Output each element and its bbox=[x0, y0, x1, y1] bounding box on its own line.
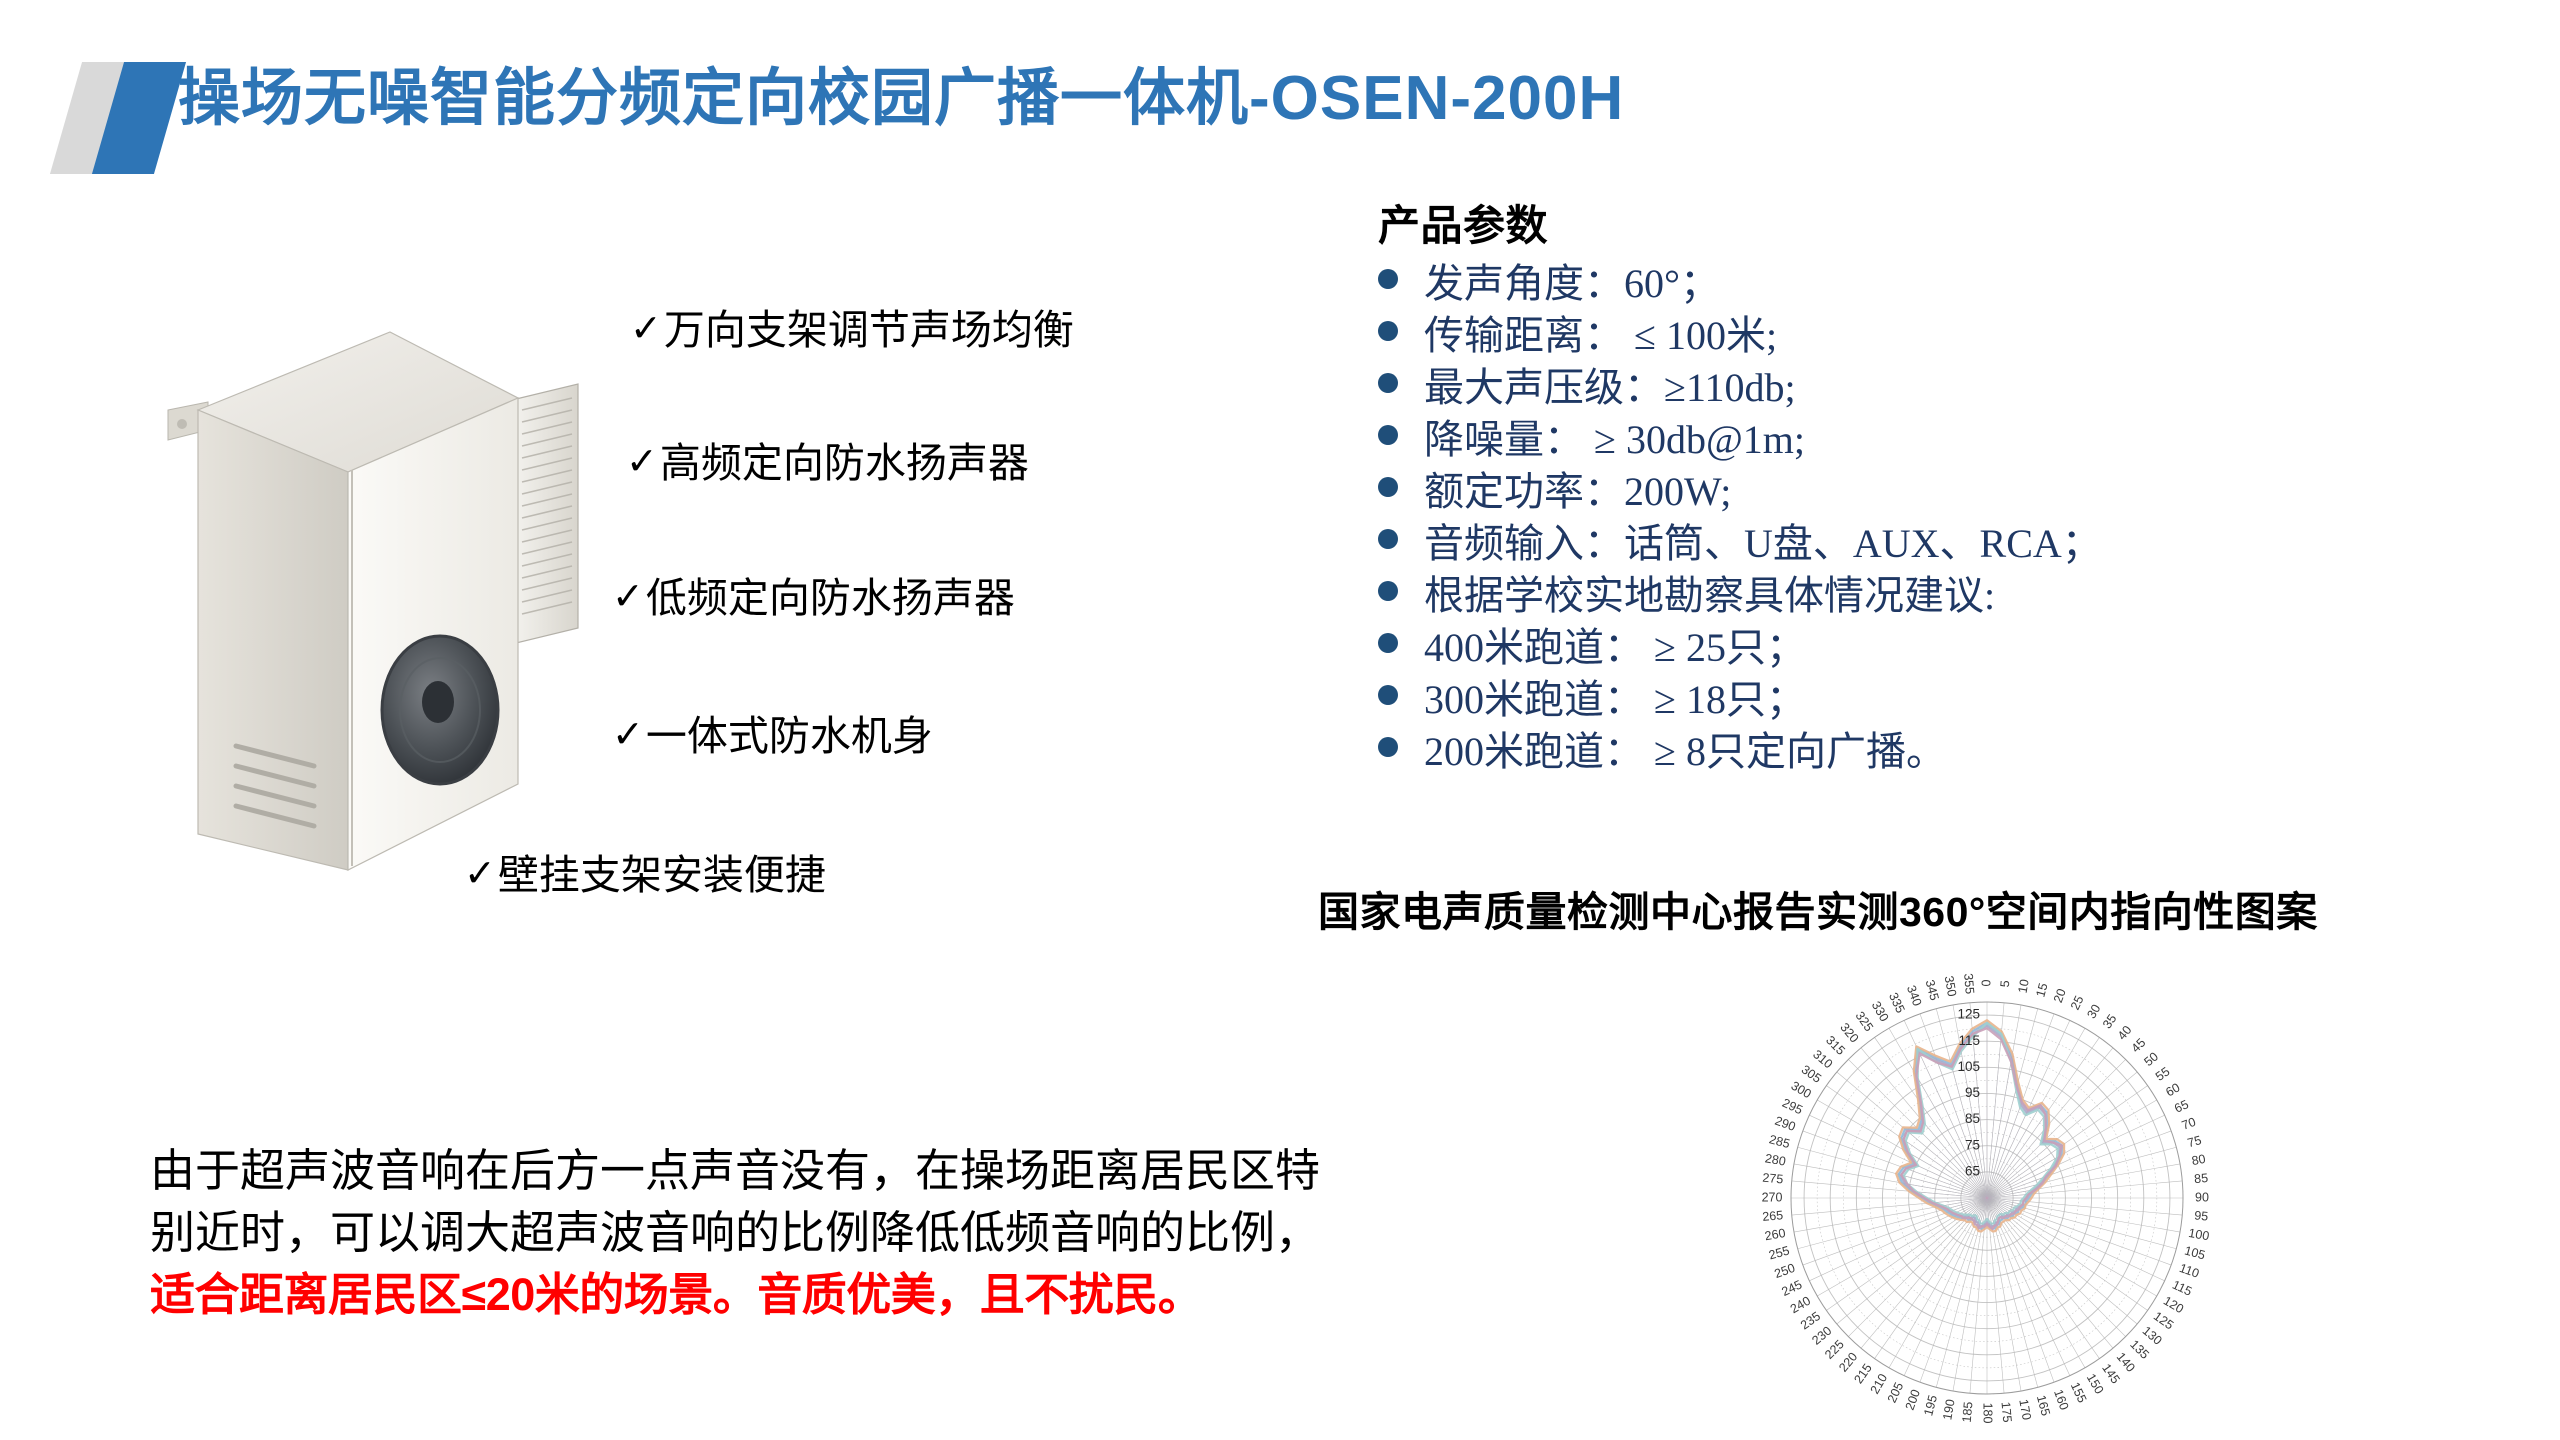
polar-angle-tick-105: 105 bbox=[2183, 1244, 2207, 1263]
polar-angle-tick-160: 160 bbox=[2051, 1388, 2071, 1412]
polar-angle-tick-265: 265 bbox=[1762, 1208, 1784, 1224]
bottom-note-line-3: 适合距离居民区≤20米的场景。音质优美，且不扰民。 bbox=[150, 1264, 1480, 1326]
product-photo bbox=[140, 310, 660, 910]
polar-angle-tick-295: 295 bbox=[1780, 1096, 1805, 1118]
bullet-dot-icon bbox=[1378, 269, 1398, 289]
polar-angle-tick-20: 20 bbox=[2051, 987, 2069, 1005]
polar-angle-tick-180: 180 bbox=[1981, 1403, 1995, 1424]
polar-angle-tick-250: 250 bbox=[1773, 1261, 1797, 1281]
bottom-note: 由于超声波音响在后方一点声音没有，在操场距离居民区特 别近时，可以调大超声波音响… bbox=[150, 1140, 1480, 1326]
parameter-row: 最大声压级：≥110db; bbox=[1378, 365, 2228, 411]
check-icon: ✓ bbox=[612, 574, 644, 622]
parameter-row: 200米跑道： ≥ 8只定向广播。 bbox=[1378, 729, 2228, 775]
polar-angle-tick-170: 170 bbox=[2016, 1398, 2033, 1421]
product-photo-illustration bbox=[140, 310, 660, 910]
check-icon: ✓ bbox=[626, 439, 658, 487]
bullet-dot-icon bbox=[1378, 685, 1398, 705]
polar-angle-tick-95: 95 bbox=[2194, 1208, 2209, 1223]
polar-angle-tick-50: 50 bbox=[2141, 1049, 2161, 1069]
polar-radial-tick-105: 105 bbox=[1957, 1059, 1980, 1074]
parameter-row: 额定功率：200W; bbox=[1378, 469, 2228, 515]
polar-angle-tick-80: 80 bbox=[2191, 1152, 2207, 1168]
check-icon: ✓ bbox=[464, 851, 496, 899]
polar-radial-tick-85: 85 bbox=[1965, 1111, 1980, 1126]
feature-checklist: ✓ 万向支架调节声场均衡 ✓ 高频定向防水扬声器 ✓ 低频定向防水扬声器 ✓ 一… bbox=[612, 306, 1252, 900]
feature-item-4-label: 一体式防水机身 bbox=[646, 712, 933, 761]
polar-angle-tick-45: 45 bbox=[2129, 1036, 2149, 1056]
parameter-label: 400米跑道： ≥ 25只； bbox=[1424, 625, 1806, 671]
parameter-row: 音频输入：话筒、U盘、AUX、RCA； bbox=[1378, 521, 2228, 567]
bullet-dot-icon bbox=[1378, 633, 1398, 653]
bullet-dot-icon bbox=[1378, 321, 1398, 341]
polar-angle-tick-200: 200 bbox=[1903, 1388, 1923, 1412]
parameter-label: 根据学校实地勘察具体情况建议: bbox=[1424, 573, 1995, 619]
polar-chart-svg: 0510152025303540455055606570758085909510… bbox=[1572, 956, 2402, 1440]
polar-angle-tick-255: 255 bbox=[1767, 1243, 1791, 1262]
polar-angle-tick-350: 350 bbox=[1942, 975, 1959, 998]
polar-angle-tick-110: 110 bbox=[2178, 1261, 2202, 1281]
polar-angle-tick-355: 355 bbox=[1961, 973, 1977, 995]
polar-angle-tick-85: 85 bbox=[2194, 1171, 2209, 1186]
parameter-label: 300米跑道： ≥ 18只； bbox=[1424, 677, 1806, 723]
polar-angle-tick-65: 65 bbox=[2172, 1097, 2191, 1116]
parameter-row: 降噪量： ≥ 30db@1m; bbox=[1378, 417, 2228, 463]
polar-radial-tick-125: 125 bbox=[1957, 1007, 1980, 1022]
feature-item-3: ✓ 低频定向防水扬声器 bbox=[612, 574, 1252, 623]
slide-root: 操场无噪智能分频定向校园广播一体机-OSEN-200H bbox=[0, 0, 2560, 1440]
feature-item-1: ✓ 万向支架调节声场均衡 bbox=[630, 306, 1252, 355]
bullet-dot-icon bbox=[1378, 425, 1398, 445]
polar-angle-tick-30: 30 bbox=[2084, 1002, 2103, 1021]
feature-item-1-label: 万向支架调节声场均衡 bbox=[664, 306, 1074, 355]
polar-angle-tick-165: 165 bbox=[2034, 1394, 2053, 1418]
check-icon: ✓ bbox=[630, 306, 662, 354]
polar-angle-tick-290: 290 bbox=[1773, 1114, 1797, 1134]
polar-angle-tick-15: 15 bbox=[2033, 982, 2050, 999]
parameter-row: 传输距离： ≤ 100米; bbox=[1378, 313, 2228, 359]
parameter-label: 传输距离： ≤ 100米; bbox=[1424, 313, 1777, 359]
polar-angle-tick-10: 10 bbox=[2016, 978, 2032, 994]
parameter-row: 300米跑道： ≥ 18只； bbox=[1378, 677, 2228, 723]
polar-angle-tick-285: 285 bbox=[1768, 1132, 1792, 1151]
polar-angle-tick-0: 0 bbox=[1979, 979, 1993, 986]
feature-item-2-label: 高频定向防水扬声器 bbox=[660, 439, 1029, 488]
bullet-dot-icon bbox=[1378, 581, 1398, 601]
feature-item-3-label: 低频定向防水扬声器 bbox=[646, 574, 1015, 623]
polar-angle-tick-90: 90 bbox=[2195, 1190, 2209, 1204]
product-parameters: 产品参数 发声角度：60°； 传输距离： ≤ 100米; 最大声压级：≥110d… bbox=[1378, 192, 2228, 775]
polar-angle-tick-260: 260 bbox=[1764, 1226, 1787, 1243]
polar-angle-tick-175: 175 bbox=[1999, 1401, 2015, 1423]
bullet-dot-icon bbox=[1378, 529, 1398, 549]
parameter-row: 发声角度：60°； bbox=[1378, 261, 2228, 307]
polar-angle-tick-345: 345 bbox=[1923, 978, 1942, 1002]
polar-angle-tick-280: 280 bbox=[1764, 1151, 1787, 1168]
parameter-row: 根据学校实地勘察具体情况建议: bbox=[1378, 573, 2228, 619]
polar-radial-tick-65: 65 bbox=[1965, 1163, 1980, 1178]
polar-angle-tick-275: 275 bbox=[1762, 1171, 1784, 1187]
polar-radial-tick-75: 75 bbox=[1965, 1137, 1980, 1152]
polar-angle-tick-270: 270 bbox=[1762, 1190, 1783, 1204]
polar-angle-tick-70: 70 bbox=[2180, 1115, 2198, 1133]
polar-angle-tick-75: 75 bbox=[2186, 1133, 2203, 1150]
feature-item-5-label: 壁挂支架安装便捷 bbox=[498, 851, 826, 900]
bullet-dot-icon bbox=[1378, 477, 1398, 497]
polar-angle-tick-205: 205 bbox=[1885, 1380, 1907, 1405]
parameter-row: 400米跑道： ≥ 25只； bbox=[1378, 625, 2228, 671]
parameters-heading: 产品参数 bbox=[1378, 192, 2228, 253]
bullet-dot-icon bbox=[1378, 737, 1398, 757]
polar-chart: 0510152025303540455055606570758085909510… bbox=[1572, 956, 2402, 1440]
polar-angle-tick-340: 340 bbox=[1904, 984, 1924, 1008]
polar-radial-tick-95: 95 bbox=[1965, 1085, 1980, 1100]
bottom-note-line-2: 别近时，可以调大超声波音响的比例降低低频音响的比例， bbox=[150, 1202, 1480, 1264]
parameter-label: 额定功率：200W; bbox=[1424, 469, 1731, 515]
polar-angle-tick-60: 60 bbox=[2163, 1080, 2182, 1099]
parameter-label: 200米跑道： ≥ 8只定向广播。 bbox=[1424, 729, 1946, 775]
parameter-label: 音频输入：话筒、U盘、AUX、RCA； bbox=[1424, 521, 2102, 567]
polar-angle-tick-185: 185 bbox=[1960, 1401, 1976, 1423]
polar-angle-tick-100: 100 bbox=[2187, 1226, 2210, 1243]
polar-angle-tick-25: 25 bbox=[2068, 994, 2087, 1013]
polar-angle-tick-35: 35 bbox=[2100, 1012, 2119, 1031]
parameter-label: 最大声压级：≥110db; bbox=[1424, 365, 1796, 411]
feature-item-5: ✓ 壁挂支架安装便捷 bbox=[464, 851, 1252, 900]
parameter-label: 降噪量： ≥ 30db@1m; bbox=[1424, 417, 1805, 463]
polar-chart-heading: 国家电声质量检测中心报告实测360°空间内指向性图案 bbox=[1318, 878, 2318, 938]
polar-radial-tick-115: 115 bbox=[1958, 1033, 1980, 1048]
polar-angle-tick-195: 195 bbox=[1921, 1394, 1940, 1418]
polar-angle-tick-5: 5 bbox=[1998, 980, 2013, 988]
feature-item-4: ✓ 一体式防水机身 bbox=[612, 712, 1252, 761]
polar-angle-tick-115: 115 bbox=[2170, 1278, 2194, 1299]
bottom-note-line-1: 由于超声波音响在后方一点声音没有，在操场距离居民区特 bbox=[150, 1140, 1480, 1202]
polar-angle-tick-155: 155 bbox=[2068, 1380, 2090, 1405]
polar-angle-tick-55: 55 bbox=[2153, 1064, 2172, 1083]
polar-angle-tick-190: 190 bbox=[1940, 1398, 1957, 1421]
check-icon: ✓ bbox=[612, 712, 644, 760]
feature-item-2: ✓ 高频定向防水扬声器 bbox=[626, 439, 1252, 488]
bullet-dot-icon bbox=[1378, 373, 1398, 393]
parameter-label: 发声角度：60°； bbox=[1424, 261, 1720, 307]
page-title: 操场无噪智能分频定向校园广播一体机-OSEN-200H bbox=[178, 60, 1624, 138]
polar-angle-tick-40: 40 bbox=[2115, 1023, 2135, 1043]
